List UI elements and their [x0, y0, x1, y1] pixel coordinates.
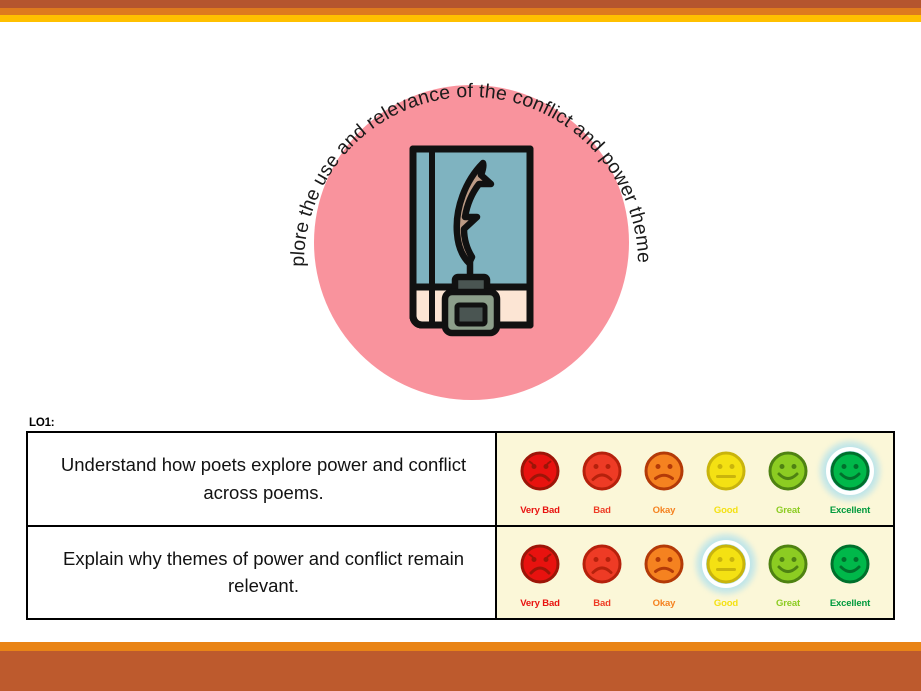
smiley-face-wrapper[interactable]	[637, 444, 691, 498]
rating-label: Good	[714, 598, 738, 609]
table-row: Explain why themes of power and conflict…	[28, 527, 893, 619]
lo1-label: LO1:	[29, 417, 54, 429]
left-eye	[718, 464, 723, 469]
left-eye	[842, 557, 847, 562]
smiley-face-icon	[519, 450, 561, 492]
rating-label: Good	[714, 505, 738, 516]
smiley-face-wrapper[interactable]	[823, 537, 877, 591]
smiley-face-icon	[705, 450, 747, 492]
table-row: Understand how poets explore power and c…	[28, 433, 893, 527]
right-eye	[792, 557, 797, 562]
bottom-stripe-orange	[0, 642, 921, 651]
bottom-stripe-brown	[0, 651, 921, 691]
rating-option-excellent[interactable]: Excellent	[819, 537, 881, 609]
smiley-face-wrapper[interactable]	[761, 444, 815, 498]
lo2-objective-text: Explain why themes of power and conflict…	[58, 545, 469, 600]
rating-option-very-bad[interactable]: Very Bad	[509, 537, 571, 609]
smiley-face-icon	[643, 543, 685, 585]
rating-option-good[interactable]: Good	[695, 537, 757, 609]
top-stripe-yellow	[0, 15, 921, 22]
smiley-face-wrapper[interactable]	[513, 444, 567, 498]
left-eye	[594, 557, 599, 562]
smiley-face-wrapper[interactable]	[761, 537, 815, 591]
selection-ring	[702, 540, 750, 588]
rating-option-very-bad[interactable]: Very Bad	[509, 444, 571, 516]
rating-label: Very Bad	[520, 505, 559, 516]
smiley-face-wrapper[interactable]	[823, 444, 877, 498]
left-eye	[656, 464, 661, 469]
hero-graphic: Explore the use and relevance of the con…	[283, 32, 659, 408]
smiley-face-wrapper[interactable]	[575, 537, 629, 591]
rating-option-good[interactable]: Good	[695, 444, 757, 516]
decorative-bottom-bar	[0, 642, 921, 691]
lo1-rating-scale: Very BadBadOkayGoodGreatExcellent	[497, 433, 893, 525]
right-eye	[606, 557, 611, 562]
rating-option-great[interactable]: Great	[757, 537, 819, 609]
left-eye	[594, 464, 599, 469]
left-eye	[656, 557, 661, 562]
smiley-face-icon	[519, 543, 561, 585]
rating-label: Bad	[593, 505, 611, 516]
lo1-objective-text: Understand how poets explore power and c…	[58, 451, 469, 506]
smiley-face-icon	[581, 543, 623, 585]
rating-label: Excellent	[830, 598, 870, 609]
inkwell-label	[457, 305, 485, 324]
right-eye	[668, 557, 673, 562]
rating-label: Very Bad	[520, 598, 559, 609]
decorative-top-bar	[0, 0, 921, 22]
smiley-face-wrapper[interactable]	[699, 537, 753, 591]
lo2-rating-scale: Very BadBadOkayGoodGreatExcellent	[497, 527, 893, 619]
smiley-face-wrapper[interactable]	[699, 444, 753, 498]
top-stripe-brown	[0, 0, 921, 8]
book-with-quill-and-inkwell-icon	[399, 137, 544, 337]
rating-label: Okay	[653, 505, 676, 516]
smiley-face-icon	[767, 450, 809, 492]
smiley-face-wrapper[interactable]	[637, 537, 691, 591]
rating-label: Okay	[653, 598, 676, 609]
rating-option-bad[interactable]: Bad	[571, 444, 633, 516]
rating-label: Great	[776, 505, 800, 516]
rating-option-excellent[interactable]: Excellent	[819, 444, 881, 516]
top-stripe-orange	[0, 8, 921, 15]
right-eye	[854, 557, 859, 562]
smiley-face-wrapper[interactable]	[575, 444, 629, 498]
smiley-face-icon	[643, 450, 685, 492]
left-eye	[780, 557, 785, 562]
smiley-face-icon	[581, 450, 623, 492]
smiley-face-wrapper[interactable]	[513, 537, 567, 591]
selection-ring	[826, 447, 874, 495]
rating-option-bad[interactable]: Bad	[571, 537, 633, 609]
right-eye	[668, 464, 673, 469]
left-eye	[780, 464, 785, 469]
rating-label: Bad	[593, 598, 611, 609]
smiley-face-icon	[829, 543, 871, 585]
rating-option-great[interactable]: Great	[757, 444, 819, 516]
smiley-face-icon	[767, 543, 809, 585]
lo1-objective-cell: Understand how poets explore power and c…	[28, 433, 497, 525]
rating-label: Excellent	[830, 505, 870, 516]
right-eye	[792, 464, 797, 469]
lo2-objective-cell: Explain why themes of power and conflict…	[28, 527, 497, 619]
rating-option-okay[interactable]: Okay	[633, 537, 695, 609]
learning-objectives-table: Understand how poets explore power and c…	[26, 431, 895, 620]
rating-option-okay[interactable]: Okay	[633, 444, 695, 516]
right-eye	[730, 464, 735, 469]
rating-label: Great	[776, 598, 800, 609]
right-eye	[606, 464, 611, 469]
